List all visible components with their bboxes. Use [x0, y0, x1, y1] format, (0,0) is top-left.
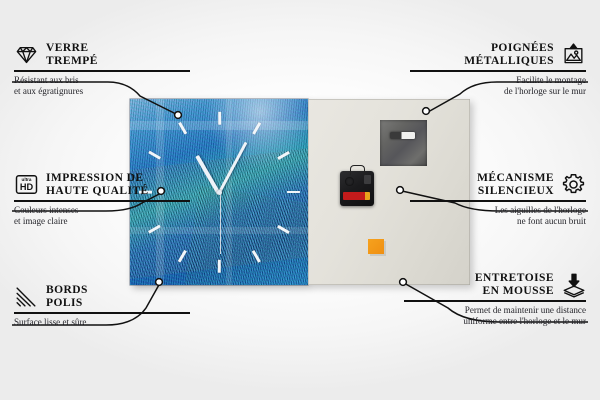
battery	[343, 192, 370, 200]
callout-rule	[14, 200, 190, 201]
callout-title: VERRE	[46, 42, 98, 55]
callout-entretoise-en-mousse: ENTRETOISE EN MOUSSE Permet de maintenir…	[404, 272, 586, 327]
callout-rule	[410, 70, 586, 71]
callout-subtitle: Permet de maintenir une distance	[404, 305, 586, 316]
callout-mecanisme-silencieux: MÉCANISME SILENCIEUX Les aiguilles de l'…	[410, 172, 586, 227]
diamond-icon	[14, 42, 39, 67]
infographic-canvas: VERRE TREMPÉ Résistant aux bris et aux é…	[0, 0, 600, 400]
callout-subtitle: Couleurs intenses	[14, 205, 190, 216]
callout-subtitle-2: ne font aucun bruit	[410, 216, 586, 227]
gear-icon	[561, 172, 586, 197]
callout-title: IMPRESSION DE	[46, 172, 149, 185]
callout-subtitle-2: de l'horloge sur le mur	[410, 86, 586, 97]
ultra-hd-icon: ultra HD	[14, 172, 39, 197]
callout-rule	[404, 300, 586, 301]
foam-spacer-icon	[561, 272, 586, 297]
ultra-hd-icon-main: HD	[14, 182, 39, 192]
pattern-band-4	[226, 99, 232, 285]
hanger-slot	[390, 132, 415, 139]
movement-hook	[350, 165, 365, 175]
callout-bords-polis: BORDS POLIS Surface lisse et sûre	[14, 284, 190, 328]
clock-center-cap	[217, 190, 222, 195]
clock-tick	[218, 111, 221, 124]
callout-verre-trempe: VERRE TREMPÉ Résistant aux bris et aux é…	[14, 42, 190, 97]
clock-movement-box	[340, 171, 374, 206]
callout-title-2: MÉTALLIQUES	[410, 55, 554, 68]
callout-poignees-metalliques: POIGNÉES MÉTALLIQUES Facilite le montage…	[410, 42, 586, 97]
foam-spacer	[368, 239, 384, 254]
callout-title-2: POLIS	[46, 297, 88, 310]
callout-impression-haute-qualite: ultra HD IMPRESSION DE HAUTE QUALITÉ Cou…	[14, 172, 190, 227]
callout-title: MÉCANISME	[410, 172, 554, 185]
callout-subtitle: Surface lisse et sûre	[14, 317, 190, 328]
pattern-wave-2	[183, 186, 308, 285]
callout-subtitle: Résistant aux bris	[14, 75, 190, 86]
callout-title: POIGNÉES	[410, 42, 554, 55]
callout-title-2: EN MOUSSE	[404, 285, 554, 298]
clock-tick	[287, 191, 300, 194]
polished-edges-icon	[14, 284, 39, 309]
callout-subtitle-2: uniforme entre l'horloge et le mur	[404, 316, 586, 327]
movement-shaft	[345, 177, 354, 186]
callout-subtitle-2: et aux égratignures	[14, 86, 190, 97]
clock-second-hand	[220, 192, 221, 254]
callout-rule	[14, 70, 190, 71]
ultra-hd-icon-top: ultra	[14, 177, 39, 182]
callout-title: ENTRETOISE	[404, 272, 554, 285]
hanging-frame-icon	[561, 42, 586, 67]
callout-rule	[410, 200, 586, 201]
callout-title-2: HAUTE QUALITÉ	[46, 185, 149, 198]
callout-subtitle: Facilite le montage	[410, 75, 586, 86]
movement-chip	[364, 175, 371, 184]
callout-title-2: TREMPÉ	[46, 55, 98, 68]
callout-title-2: SILENCIEUX	[410, 185, 554, 198]
callout-rule	[14, 312, 190, 313]
hanger-plate	[380, 120, 427, 166]
callout-subtitle: Les aiguilles de l'horloge	[410, 205, 586, 216]
callout-title: BORDS	[46, 284, 88, 297]
clock-tick	[218, 259, 221, 272]
callout-subtitle-2: et image claire	[14, 216, 190, 227]
